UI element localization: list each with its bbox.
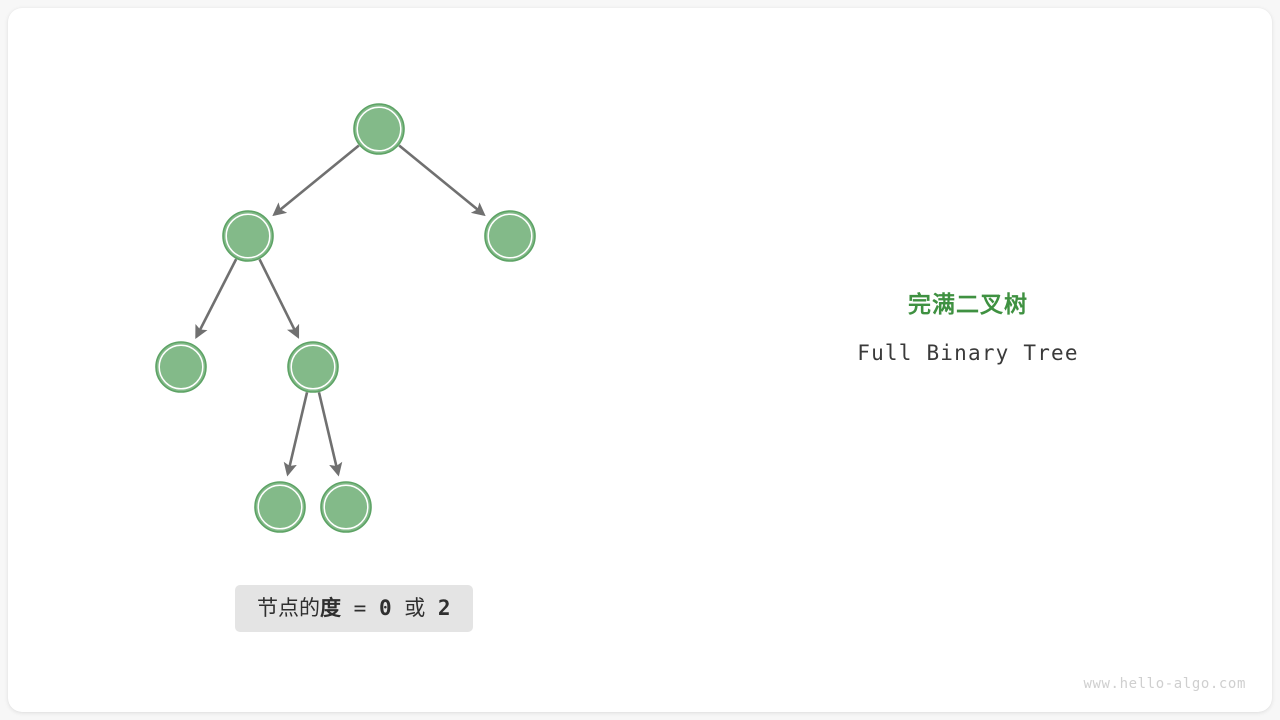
tree-node-inner-ring	[488, 214, 532, 258]
degree-badge-segment: 0	[379, 598, 392, 619]
degree-badge-segment: 节点的	[257, 598, 320, 619]
tree-edge	[288, 392, 307, 474]
caption-title-cn: 完满二叉树	[768, 288, 1168, 322]
tree-node	[321, 482, 371, 532]
tree-node-inner-ring	[159, 345, 203, 389]
tree-node	[354, 104, 404, 154]
degree-badge-segment: 或	[392, 598, 438, 619]
degree-badge-segment: 2	[438, 598, 451, 619]
caption-block: 完满二叉树 Full Binary Tree	[768, 288, 1168, 367]
tree-node	[156, 342, 206, 392]
tree-node-layer	[156, 104, 535, 532]
tree-node-inner-ring	[291, 345, 335, 389]
tree-node	[485, 211, 535, 261]
tree-edge	[196, 259, 236, 337]
tree-edge	[260, 259, 298, 336]
caption-title-en: Full Binary Tree	[768, 339, 1168, 367]
diagram-canvas: 完满二叉树 Full Binary Tree 节点的度 = 0 或 2 www.…	[0, 0, 1280, 720]
tree-edge	[319, 392, 338, 474]
tree-edge	[399, 145, 484, 214]
tree-node	[223, 211, 273, 261]
tree-edge-layer	[196, 145, 483, 473]
tree-edge	[274, 145, 359, 214]
tree-node	[288, 342, 338, 392]
watermark-label: www.hello-algo.com	[1083, 676, 1246, 692]
tree-node-inner-ring	[258, 485, 302, 529]
degree-badge-segment: =	[341, 598, 379, 619]
tree-node-inner-ring	[226, 214, 270, 258]
tree-node-inner-ring	[357, 107, 401, 151]
degree-badge-segment: 度	[320, 598, 341, 619]
tree-node	[255, 482, 305, 532]
degree-badge: 节点的度 = 0 或 2	[235, 585, 473, 632]
tree-node-inner-ring	[324, 485, 368, 529]
